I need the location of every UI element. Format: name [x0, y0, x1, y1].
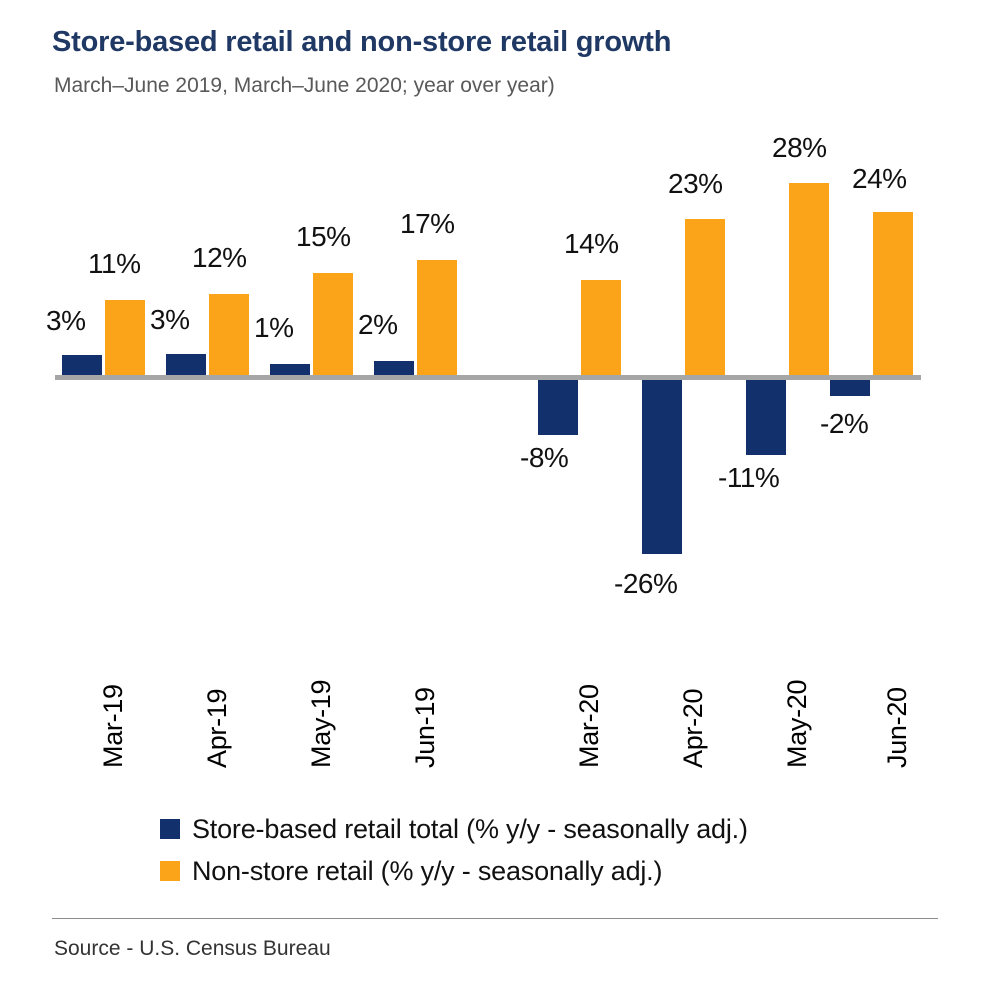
bar-apr20-store-value-label: -26%: [614, 568, 677, 600]
bar-mar20-nonstore[interactable]: [581, 280, 621, 375]
bar-jun19-nonstore[interactable]: [417, 260, 457, 375]
bar-mar19-nonstore-value-label: 11%: [88, 248, 140, 280]
bar-mar19-store[interactable]: [62, 355, 102, 375]
bar-may19-store-value-label: 1%: [254, 312, 293, 344]
bar-apr19-store-value-label: 3%: [150, 304, 189, 336]
bar-mar19-nonstore[interactable]: [105, 300, 145, 375]
bar-jun20-store[interactable]: [830, 380, 870, 396]
bar-jun19-store-value-label: 2%: [358, 309, 397, 341]
bar-apr20-nonstore-value-label: 23%: [668, 168, 723, 200]
bar-may20-store[interactable]: [746, 380, 786, 455]
bar-may19-nonstore[interactable]: [313, 273, 353, 375]
bar-may20-store-value-label: -11%: [718, 462, 779, 494]
legend-label-nonstore: Non-store retail (% y/y - seasonally adj…: [192, 856, 662, 887]
bar-jun20-nonstore[interactable]: [873, 212, 913, 375]
chart-plot-area: 3%11%3%12%1%15%2%17%-8%14%-26%23%-11%28%…: [0, 0, 994, 640]
x-axis-label-apr-20: Apr-20: [678, 689, 709, 768]
bar-apr19-store[interactable]: [166, 354, 206, 375]
legend-item-nonstore[interactable]: Non-store retail (% y/y - seasonally adj…: [160, 850, 748, 892]
bar-may19-nonstore-value-label: 15%: [296, 221, 351, 253]
legend-swatch-nonstore: [160, 861, 180, 881]
x-axis-label-apr-19: Apr-19: [202, 689, 233, 768]
x-axis-label-may-20: May-20: [782, 680, 813, 768]
zero-axis-line: [55, 375, 921, 380]
legend-item-store[interactable]: Store-based retail total (% y/y - season…: [160, 808, 748, 850]
source-note: Source - U.S. Census Bureau: [54, 937, 331, 961]
bar-may19-store[interactable]: [270, 364, 310, 375]
legend-label-store: Store-based retail total (% y/y - season…: [192, 814, 748, 845]
bar-may20-nonstore-value-label: 28%: [772, 132, 827, 164]
bar-mar20-nonstore-value-label: 14%: [564, 228, 619, 260]
x-axis-label-jun-19: Jun-19: [410, 687, 441, 768]
chart-page: Store-based retail and non-store retail …: [0, 0, 994, 1008]
bar-mar20-store-value-label: -8%: [520, 442, 568, 474]
bar-apr19-nonstore[interactable]: [209, 294, 249, 375]
bar-jun20-store-value-label: -2%: [820, 408, 868, 440]
bar-mar20-store[interactable]: [538, 380, 578, 435]
x-axis-label-mar-19: Mar-19: [98, 684, 129, 768]
bar-apr20-nonstore[interactable]: [685, 219, 725, 375]
bar-may20-nonstore[interactable]: [789, 183, 829, 375]
bar-apr20-store[interactable]: [642, 380, 682, 554]
x-axis-label-may-19: May-19: [306, 680, 337, 768]
bar-jun19-store[interactable]: [374, 361, 414, 375]
bar-jun20-nonstore-value-label: 24%: [852, 163, 907, 195]
bar-apr19-nonstore-value-label: 12%: [192, 242, 247, 274]
chart-legend: Store-based retail total (% y/y - season…: [160, 808, 748, 892]
bar-jun19-nonstore-value-label: 17%: [400, 208, 455, 240]
x-axis-label-mar-20: Mar-20: [574, 684, 605, 768]
bar-mar19-store-value-label: 3%: [46, 305, 85, 337]
footer-divider: [52, 918, 938, 919]
legend-swatch-store: [160, 819, 180, 839]
x-axis-label-jun-20: Jun-20: [882, 687, 913, 768]
